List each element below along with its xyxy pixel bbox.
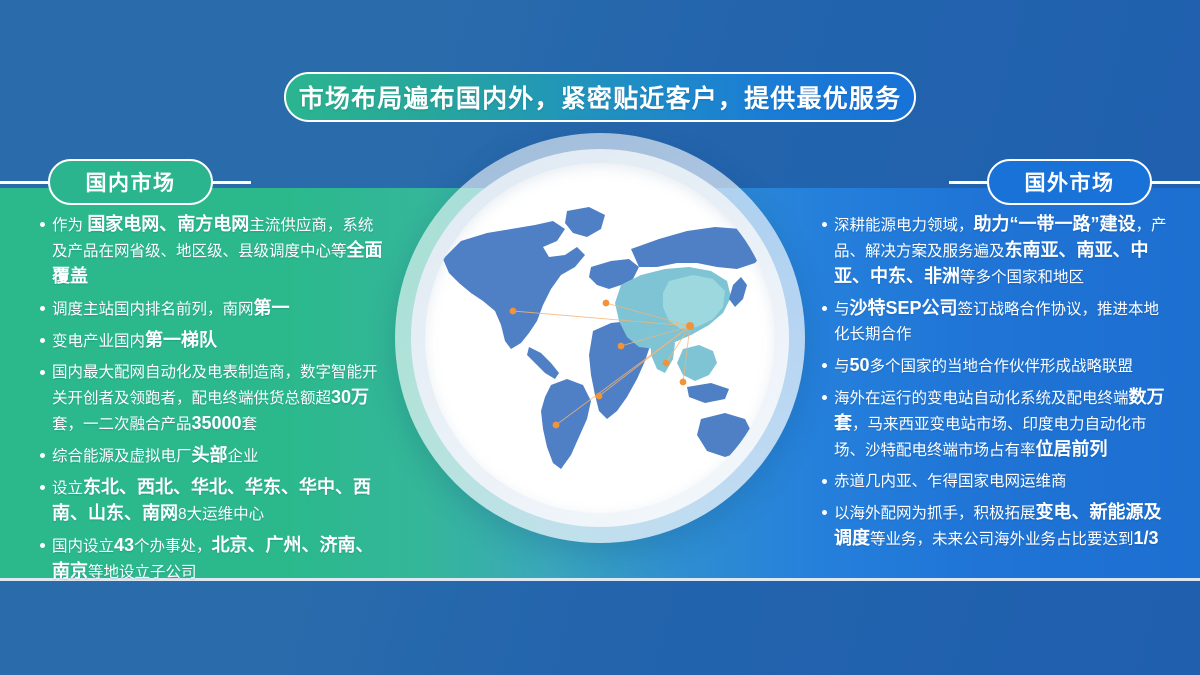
bullet-item: 调度主站国内排名前列，南网第一	[36, 296, 388, 322]
slide-title-banner: 市场布局遍布国内外，紧密贴近客户，提供最优服务	[284, 72, 916, 122]
bullet-item: 与沙特SEP公司签订战略合作协议，推进本地化长期合作	[818, 296, 1170, 347]
map-region-japan	[729, 277, 747, 307]
map-region-south-america	[541, 379, 591, 469]
map-region-indonesia	[687, 383, 729, 403]
bullet-item: 作为 国家电网、南方电网主流供应商，系统及产品在网省级、地区级、县级调度中心等全…	[36, 212, 388, 290]
bullet-item: 国内设立43个办事处，北京、广州、济南、南京等地设立子公司	[36, 533, 388, 585]
bullet-item: 国内最大配网自动化及电表制造商，数字智能开关开创者及领跑者，配电终端供货总额超3…	[36, 360, 388, 437]
bullet-item: 赤道几内亚、乍得国家电网运维商	[818, 469, 1170, 494]
domestic-market-bullet-list: 作为 国家电网、南方电网主流供应商，系统及产品在网省级、地区级、县级调度中心等全…	[36, 212, 388, 591]
connector-line-right-outer	[1150, 181, 1200, 184]
map-marker-southeast-asia	[680, 379, 687, 386]
connector-line-left-inner	[211, 181, 251, 184]
map-region-asia-russia	[631, 227, 765, 269]
bullet-item: 深耕能源电力领域，助力“一带一路”建设，产品、解决方案及服务遍及东南亚、南亚、中…	[818, 212, 1170, 290]
domestic-market-header-pill: 国内市场	[48, 159, 213, 205]
bullet-item: 与50多个国家的当地合作伙伴形成战略联盟	[818, 353, 1170, 379]
domestic-market-header-label: 国内市场	[86, 167, 176, 197]
map-marker-south-america	[553, 422, 560, 429]
slide-root: 市场布局遍布国内外，紧密贴近客户，提供最优服务 国内市场 国外市场 作为 国家电…	[0, 0, 1200, 675]
map-marker-south-asia	[663, 360, 670, 367]
bullet-item: 海外在运行的变电站自动化系统及配电终端数万套，马来西亚变电站市场、印度电力自动化…	[818, 385, 1170, 463]
map-landmasses	[443, 207, 769, 475]
globe-graphic	[395, 133, 805, 578]
map-marker-europe	[603, 300, 610, 307]
map-region-greenland	[565, 207, 605, 237]
map-region-new-zealand	[757, 457, 769, 475]
slide-title-text: 市场布局遍布国内外，紧密贴近客户，提供最优服务	[299, 79, 902, 115]
map-region-australia	[697, 413, 753, 457]
bullet-item: 综合能源及虚拟电厂头部企业	[36, 443, 388, 469]
world-map-svg	[425, 163, 775, 513]
connector-line-right-inner	[949, 181, 989, 184]
overseas-market-header-label: 国外市场	[1025, 167, 1115, 197]
map-region-southeast-asia	[677, 345, 717, 381]
connector-line-left-outer	[0, 181, 50, 184]
overseas-market-header-pill: 国外市场	[987, 159, 1152, 205]
world-map	[425, 163, 775, 513]
map-marker-china-hub	[686, 322, 694, 330]
map-marker-north-america	[510, 308, 517, 315]
bullet-item: 以海外配网为抓手，积极拓展变电、新能源及调度等业务，未来公司海外业务占比要达到1…	[818, 500, 1170, 552]
map-region-north-america	[443, 221, 585, 349]
bullet-item: 设立东北、西北、华北、华东、华中、西南、山东、南网8大运维中心	[36, 475, 388, 527]
overseas-market-bullet-list: 深耕能源电力领域，助力“一带一路”建设，产品、解决方案及服务遍及东南亚、南亚、中…	[818, 212, 1170, 558]
bullet-item: 变电产业国内第一梯队	[36, 328, 388, 354]
map-marker-africa	[596, 393, 603, 400]
map-region-central-america	[527, 347, 559, 379]
map-marker-middle-east	[618, 343, 625, 350]
